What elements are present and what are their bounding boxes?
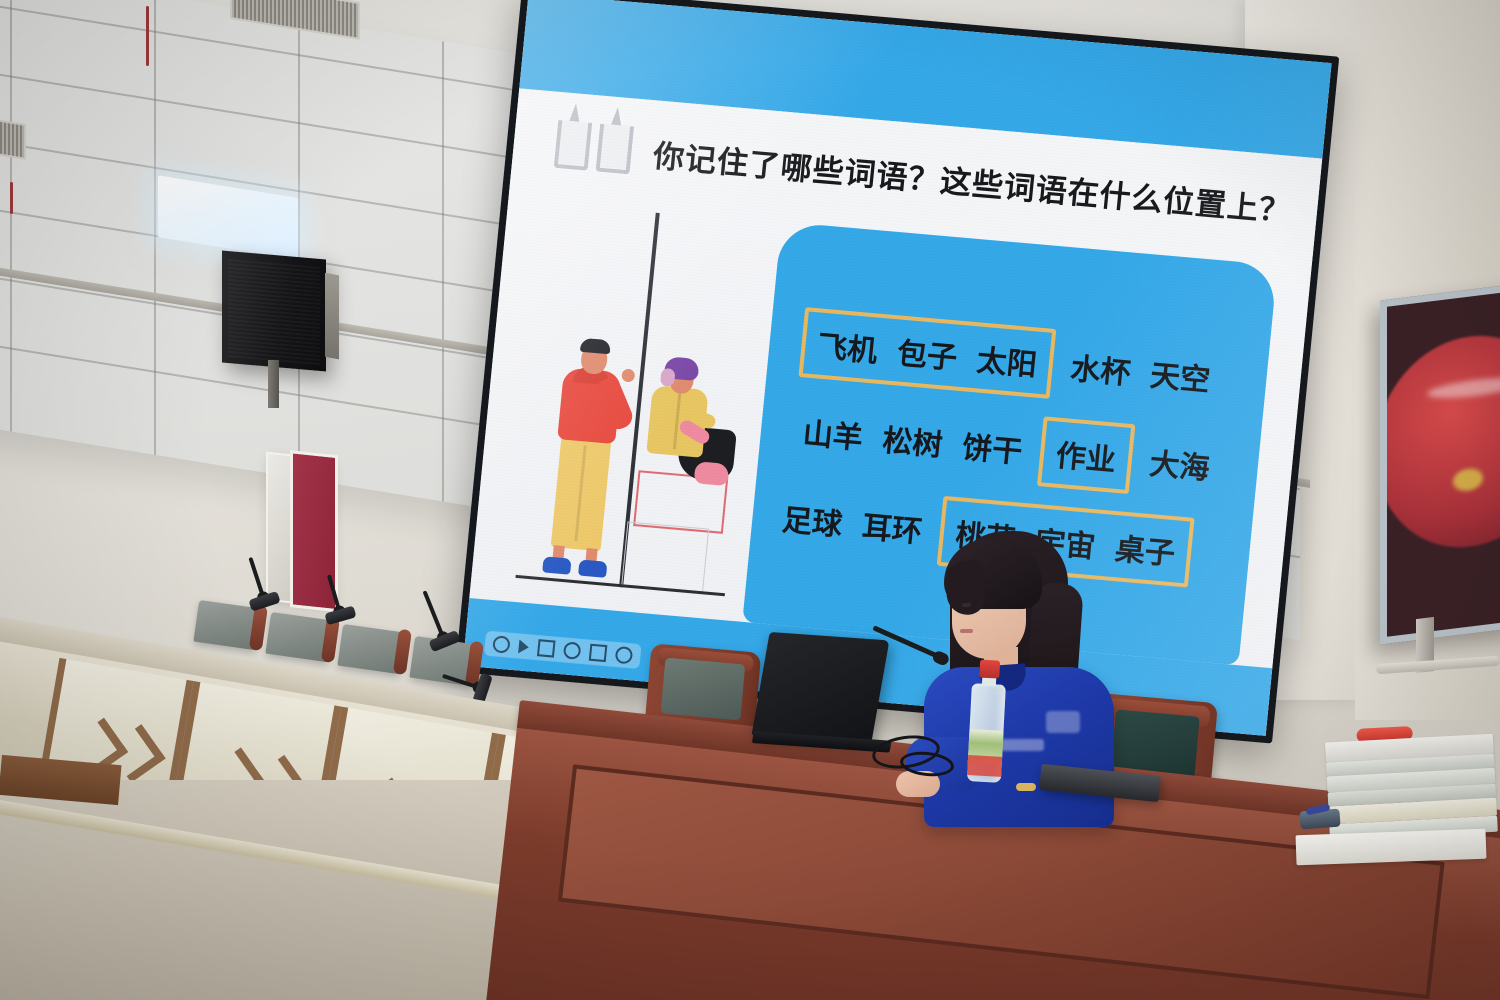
- bottle-cap[interactable]: [979, 660, 1000, 679]
- sleeve-logo: [1046, 711, 1080, 733]
- speaker-grill: [228, 257, 320, 365]
- prev-icon[interactable]: [492, 635, 511, 653]
- presentation-slide: 你记住了哪些词语？这些词语在什么位置上？: [463, 0, 1332, 736]
- gray-outlined-box: [621, 521, 709, 592]
- word: 作业: [1052, 429, 1120, 482]
- air-vent: [230, 0, 360, 40]
- bottle-label-accent: [967, 755, 1002, 777]
- word: 山羊: [799, 406, 867, 459]
- sitting-figure: [633, 361, 743, 517]
- back-seat[interactable]: [265, 612, 332, 662]
- word-row-1: 飞机 包子 太阳 水杯 天空: [792, 307, 1243, 416]
- fire-equipment-cabinet[interactable]: [266, 452, 330, 604]
- two-people-illustration: [505, 195, 776, 621]
- double-quote-icon: [554, 120, 634, 174]
- pen-icon[interactable]: [537, 639, 556, 657]
- wall-speaker: [222, 250, 326, 371]
- word: 飞机: [813, 319, 881, 372]
- water-bottle[interactable]: [963, 659, 1011, 783]
- word: 足球: [778, 493, 846, 546]
- speaker-bracket: [325, 273, 339, 360]
- laptop-screen[interactable]: [752, 632, 890, 743]
- screenshot-root: 你记住了哪些词语？这些词语在什么位置上？: [0, 0, 1500, 1000]
- wall-framed-display: [1380, 283, 1500, 644]
- word: 饼干: [958, 420, 1026, 473]
- word-box-row-2[interactable]: 作业: [1037, 416, 1135, 494]
- sprinkler-pipe: [10, 182, 13, 214]
- word: 天空: [1146, 348, 1214, 401]
- screen-surface[interactable]: 你记住了哪些词语？这些词语在什么位置上？: [463, 0, 1332, 736]
- play-icon[interactable]: [518, 639, 529, 654]
- lantern-shape: [1380, 325, 1500, 558]
- word-row-2: 山羊 松树 饼干 作业 大海: [784, 394, 1235, 503]
- projection-screen[interactable]: 你记住了哪些词语？这些词语在什么位置上？: [455, 0, 1339, 743]
- mouth: [960, 629, 973, 633]
- slide-body: 飞机 包子 太阳 水杯 天空 山羊 松树 饼干: [469, 192, 1312, 668]
- back-seat[interactable]: [337, 624, 404, 674]
- word: 大海: [1146, 437, 1214, 490]
- menu-icon[interactable]: [589, 644, 608, 662]
- next-icon[interactable]: [615, 646, 634, 664]
- word: 松树: [879, 413, 947, 466]
- pointer-icon[interactable]: [563, 641, 582, 659]
- word: 水杯: [1067, 341, 1135, 394]
- word: 包子: [893, 326, 961, 379]
- sprinkler-pipe: [146, 6, 149, 66]
- speaker-mount-pole: [268, 360, 279, 408]
- word: 太阳: [973, 333, 1041, 386]
- laptop[interactable]: [756, 632, 894, 759]
- air-vent: [0, 104, 26, 160]
- word-box-row-1[interactable]: 飞机 包子 太阳: [798, 307, 1056, 399]
- bracelet: [1016, 783, 1036, 791]
